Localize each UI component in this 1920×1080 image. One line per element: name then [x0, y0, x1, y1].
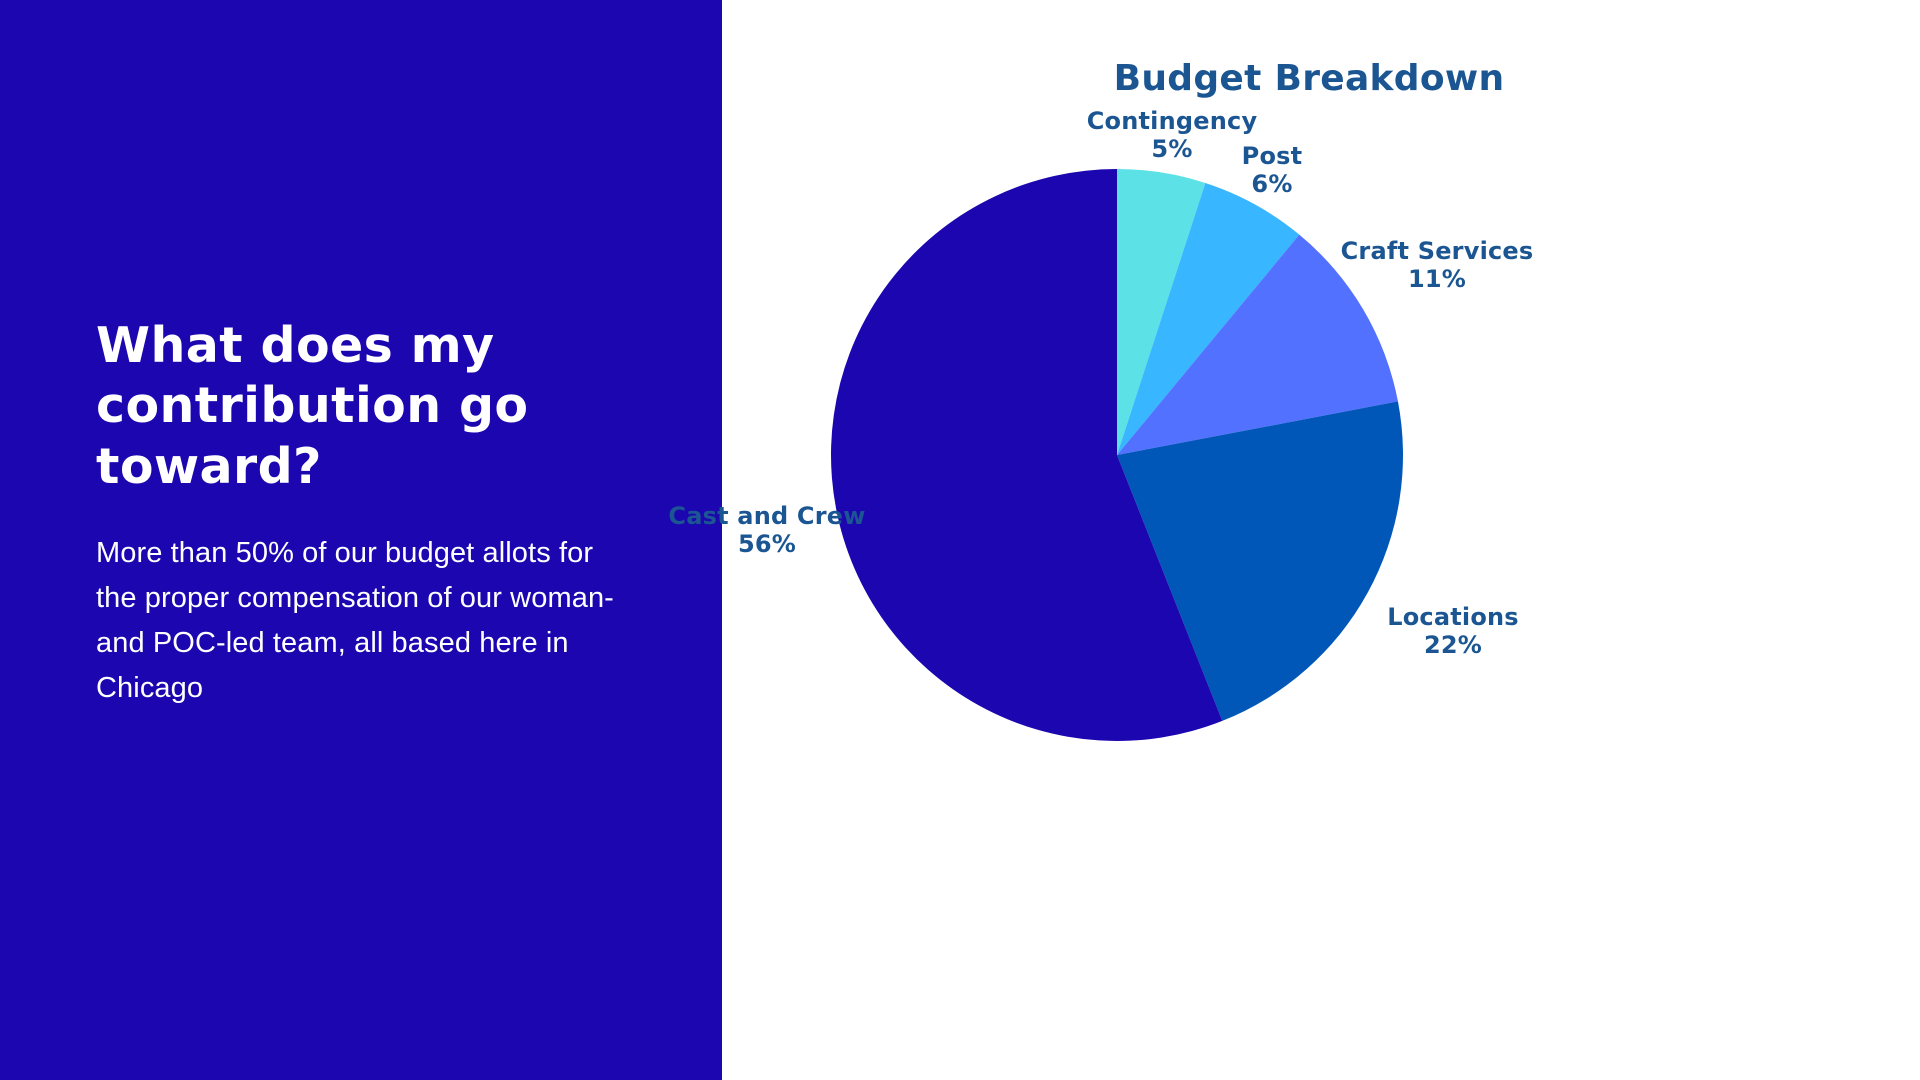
pie-label-cast-and-crew-value: 56% [632, 531, 902, 559]
pie-label-craft-services: Craft Services 11% [1332, 238, 1542, 294]
pie-label-contingency-name: Contingency [1062, 108, 1282, 136]
pie-label-post: Post 6% [1202, 143, 1342, 199]
pie-label-craft-services-name: Craft Services [1332, 238, 1542, 266]
pie-label-cast-and-crew-name: Cast and Crew [632, 503, 902, 531]
pie-label-post-value: 6% [1202, 171, 1342, 199]
pie-label-cast-and-crew: Cast and Crew 56% [632, 503, 902, 559]
pie-label-craft-services-value: 11% [1332, 266, 1542, 294]
pie-label-locations-value: 22% [1358, 632, 1548, 660]
pie-chart: Contingency 5% Post 6% Craft Services 11… [722, 0, 1920, 1080]
panel-content: What does my contribution go toward? Mor… [96, 316, 626, 711]
pie-label-locations: Locations 22% [1358, 604, 1548, 660]
pie-label-post-name: Post [1202, 143, 1342, 171]
panel-body-text: More than 50% of our budget allots for t… [96, 531, 626, 711]
chart-panel: Budget Breakdown Contingency 5% Post 6% … [722, 0, 1920, 1080]
pie-slice-group [831, 169, 1403, 741]
left-info-panel: What does my contribution go toward? Mor… [0, 0, 722, 1080]
pie-label-locations-name: Locations [1358, 604, 1548, 632]
page-title: What does my contribution go toward? [96, 316, 626, 497]
